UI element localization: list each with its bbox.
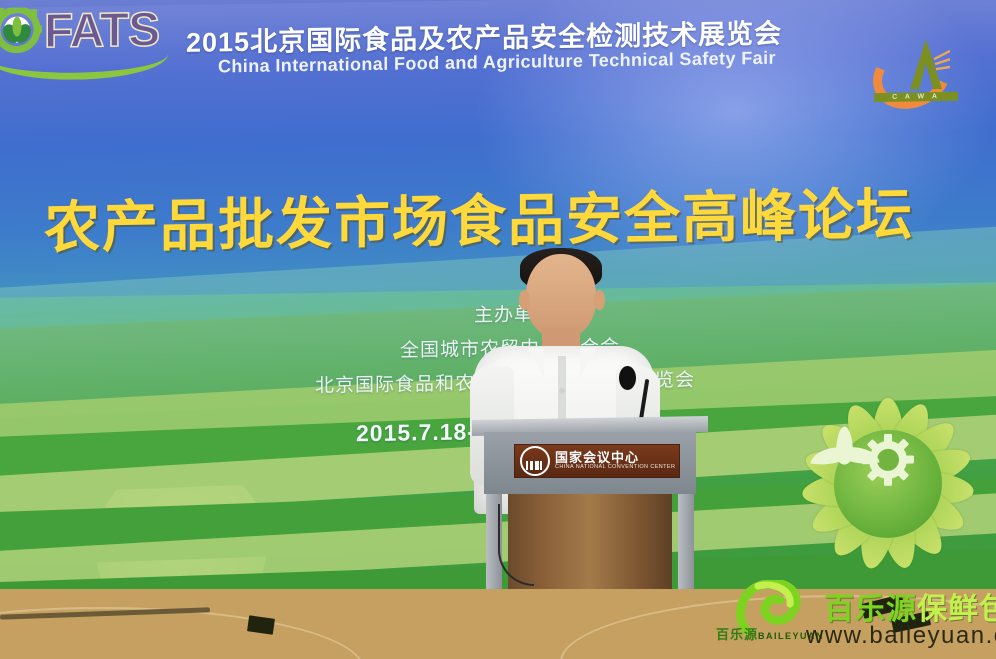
plaque-text-cn: 国家会议中心 (555, 451, 675, 464)
cncc-logo-icon (520, 446, 550, 476)
speaker-ear-right (594, 290, 605, 310)
cawa-a-mark (904, 37, 950, 92)
podium-plaque: 国家会议中心 CHINA NATIONAL CONVENTION CENTER (514, 444, 680, 478)
speaker-collar-right (580, 348, 596, 378)
watermark: 百乐源保鲜包装 百乐源BAILEYUAN www.baileyuan.cn (706, 580, 996, 659)
cawa-label: C A W A (874, 92, 958, 102)
speaker-ear-left (519, 290, 530, 310)
watermark-small-cn: 百乐源 (716, 627, 758, 642)
sunflower-emblem (790, 384, 986, 583)
speaker-head (526, 254, 596, 338)
floor-object-1 (247, 615, 275, 634)
plaque-text-en: CHINA NATIONAL CONVENTION CENTER (555, 464, 675, 471)
microphone-head (619, 366, 636, 390)
fats-logo: FATS (0, 3, 168, 78)
cawa-logo: C A W A (868, 37, 976, 109)
podium-front-face: 国家会议中心 CHINA NATIONAL CONVENTION CENTER (484, 432, 696, 494)
speaker-collar-left (528, 348, 544, 378)
screenshot-root: FATS 2015北京国际食品及农产品安全检测技术展览会 China Inter… (0, 0, 996, 659)
watermark-url: www.baileyuan.cn (806, 622, 996, 650)
podium-cable (498, 504, 534, 586)
